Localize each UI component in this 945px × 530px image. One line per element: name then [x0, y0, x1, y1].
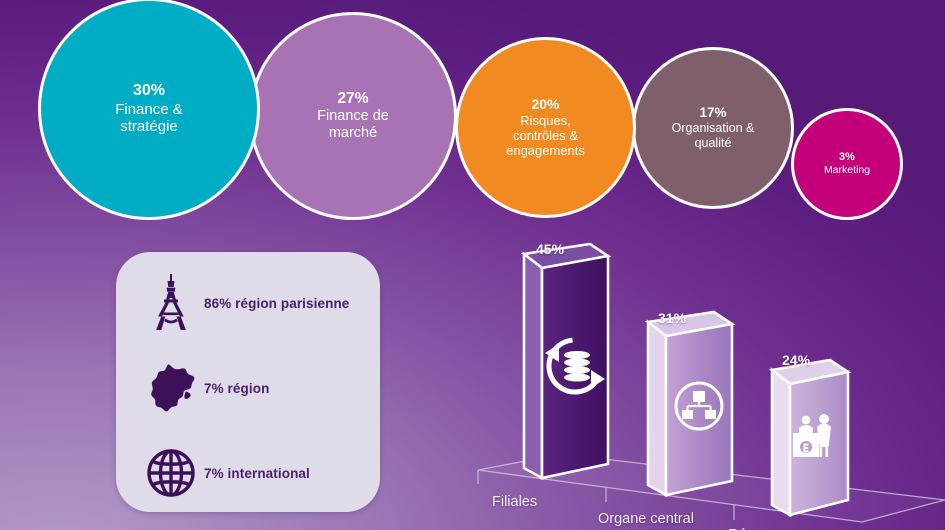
circle-percent: 17%: [699, 105, 726, 121]
circle-label-line1: Finance de: [317, 108, 389, 125]
bar-chart-3d: 45% 31% 24% Filiales Organe central Ré: [462, 232, 945, 530]
circle-label-line1: Marketing: [824, 164, 870, 176]
circle-label-line2: qualité: [695, 136, 732, 151]
circle-percent: 30%: [133, 82, 165, 101]
circle-label-line2: stratégie: [120, 118, 178, 136]
circle-label-line1: Finance &: [115, 101, 183, 119]
bar-value-label: 24%: [782, 352, 810, 368]
bar-category-label: Filiales: [492, 494, 537, 510]
circle-finance-strategie[interactable]: 30% Finance & stratégie: [38, 0, 260, 220]
bar-value-label: 31%: [658, 310, 686, 326]
circle-percent: 27%: [337, 90, 368, 108]
location-card: 86% région parisienne 7% région: [116, 252, 380, 512]
circle-label-line1: Organisation &: [672, 121, 755, 136]
location-label: 7% international: [204, 466, 310, 481]
circle-organisation-qualite[interactable]: 17% Organisation & qualité: [632, 47, 794, 209]
bar-category-label: Organe central: [598, 511, 694, 527]
location-label: 86% région parisienne: [204, 296, 349, 311]
circle-percent: 20%: [531, 96, 559, 113]
circle-label-line2: marché: [329, 125, 377, 142]
france-map-icon: [138, 357, 204, 419]
bar-organe-central: [648, 312, 732, 495]
bar-value-label: 45%: [536, 241, 564, 257]
location-row-paris: 86% région parisienne: [138, 272, 360, 334]
bar-reseau: [772, 360, 848, 515]
location-row-international: 7% international: [138, 442, 360, 504]
circle-finance-marche[interactable]: 27% Finance de marché: [249, 12, 457, 220]
globe-icon: [138, 442, 204, 504]
circle-label-line2: contrôles &: [513, 128, 578, 143]
circle-marketing[interactable]: 3% Marketing: [791, 108, 903, 220]
location-label: 7% région: [204, 381, 269, 396]
circle-risques-controles-engagements[interactable]: 20% Risques, contrôles & engagements: [455, 37, 636, 218]
eiffel-tower-icon: [138, 272, 204, 334]
circle-label-line1: Risques,: [520, 113, 571, 128]
infographic-canvas: 30% Finance & stratégie 27% Finance de m…: [0, 0, 945, 530]
circle-percent: 3%: [839, 151, 855, 164]
location-row-region: 7% région: [138, 357, 360, 419]
circle-label-line3: engagements: [506, 143, 585, 158]
bar-filiales: [524, 244, 611, 478]
